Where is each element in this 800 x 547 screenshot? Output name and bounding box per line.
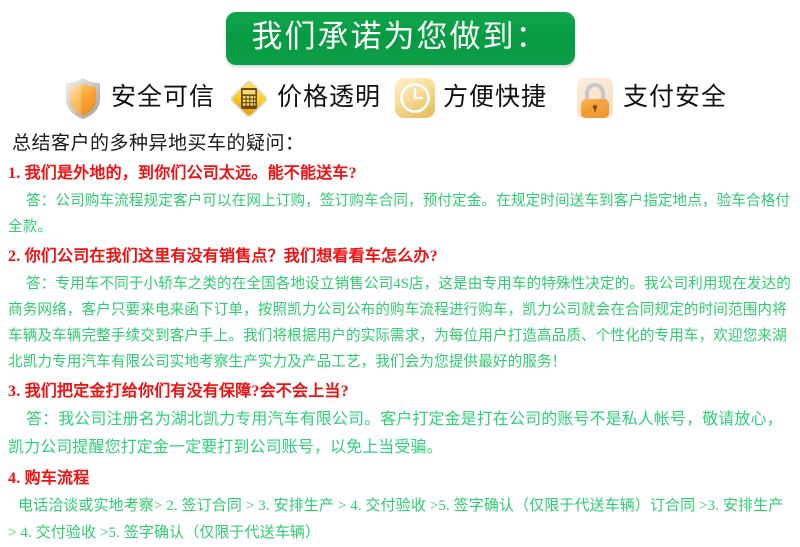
feature-item-payment: 支付安全: [573, 75, 739, 121]
clock-icon: [393, 75, 437, 121]
faq-question-3: 3. 我们把定金打给你们有没有保障?会不会上当?: [8, 379, 794, 404]
faq-question-2: 2. 你们公司在我们这里有没有销售点？我们想看看车怎么办?: [8, 244, 794, 269]
calculator-icon: [227, 75, 271, 121]
feature-item-price: 价格透明: [227, 75, 393, 121]
purchase-flow-heading: 4. 购车流程: [8, 466, 794, 491]
faq-answer-3: 答：我公司注册名为湖北凯力专用汽车有限公司。客户打定金是打在公司的账号不是私人帐…: [8, 406, 794, 462]
feature-item-convenient: 方便快捷: [393, 75, 559, 121]
feature-row: 安全可信 价: [0, 75, 800, 121]
faq-question-1: 1. 我们是外地的，到你们公司太远。能不能送车?: [8, 161, 794, 186]
feature-label-payment: 支付安全: [623, 83, 727, 113]
faq-answer-2: 答：专用车不同于小轿车之类的在全国各地设立销售公司4S店，这是由专用车的特殊性决…: [8, 271, 794, 375]
banner-title: 我们承诺为您做到：: [252, 18, 549, 56]
feature-label-safe: 安全可信: [111, 83, 215, 113]
faq-answer-1: 答：公司购车流程规定客户可以在网上订购，签订购车合同，预付定金。在规定时间送车到…: [8, 188, 794, 240]
feature-item-safe: 安全可信: [61, 75, 227, 121]
feature-label-convenient: 方便快捷: [443, 83, 547, 113]
faq-content: 总结客户的多种异地买车的疑问： 1. 我们是外地的，到你们公司太远。能不能送车?…: [0, 121, 800, 547]
feature-label-price: 价格透明: [277, 83, 381, 113]
banner-row: 我们承诺为您做到：: [0, 0, 800, 65]
shield-icon: [61, 75, 105, 121]
promise-banner: 我们承诺为您做到：: [226, 12, 575, 65]
lock-icon: [573, 75, 617, 121]
purchase-flow-text: 电话洽谈或实地考察> 2. 签订合同 > 3. 安排生产 > 4. 交付验收 >…: [8, 493, 794, 547]
faq-heading: 总结客户的多种异地买车的疑问：: [12, 131, 794, 157]
